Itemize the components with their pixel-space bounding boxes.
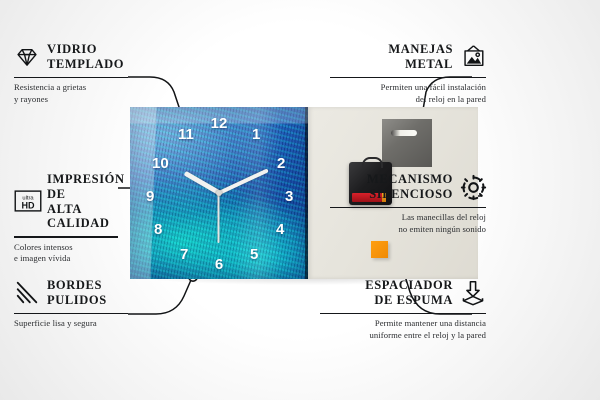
foam-spacer <box>371 241 388 258</box>
metal-hanger-plate <box>382 119 432 167</box>
diamond-icon <box>14 44 40 70</box>
clock-numeral: 2 <box>277 156 285 171</box>
svg-text:HD: HD <box>21 200 35 210</box>
callout-subtitle: Permite mantener una distanciauniforme e… <box>320 318 486 342</box>
clock-numeral: 8 <box>154 222 162 237</box>
callout-subtitle: Permiten una fácil instalacióndel reloj … <box>330 82 486 106</box>
clock-front: 12 1 2 3 4 5 6 7 8 9 10 11 <box>130 107 308 279</box>
clock-center-pin <box>216 190 222 196</box>
callout-bordes-pulidos: BORDESPULIDOS Superficie lisa y segura <box>14 278 128 330</box>
callout-subtitle: Superficie lisa y segura <box>14 318 128 330</box>
arrow-down-pad-icon <box>460 280 486 306</box>
callout-mecanismo-silencioso: MECANISMOSILENCIOSO Las manecillas del r… <box>330 172 486 236</box>
clock-numeral: 7 <box>180 247 188 262</box>
callout-rule <box>320 313 486 315</box>
callout-subtitle: Resistencia a grietasy rayones <box>14 82 128 106</box>
infographic-canvas: 12 1 2 3 4 5 6 7 8 9 10 11 <box>0 0 600 400</box>
clock-numeral: 11 <box>178 127 194 142</box>
hanger-slot <box>391 130 417 136</box>
clock-numeral: 10 <box>152 156 169 171</box>
clock-numeral: 4 <box>276 222 284 237</box>
callout-rule <box>14 236 118 238</box>
callout-title: ESPACIADORDE ESPUMA <box>365 278 453 308</box>
callout-espaciador-espuma: ESPACIADORDE ESPUMA Permite mantener una… <box>320 278 486 342</box>
callout-impresion-alta-calidad: ultra HD IMPRESIÓN DEALTA CALIDAD Colore… <box>14 172 118 265</box>
clock-numeral: 1 <box>252 127 260 142</box>
ultra-hd-icon: ultra HD <box>14 189 40 215</box>
diagonal-lines-icon <box>14 280 40 306</box>
clock-numeral: 6 <box>215 257 223 272</box>
movement-hanger-loop <box>362 157 383 168</box>
callout-title: MECANISMOSILENCIOSO <box>367 172 453 202</box>
callout-rule <box>14 313 128 315</box>
callout-rule <box>330 207 486 209</box>
picture-frame-icon <box>460 44 486 70</box>
callout-manejas-metal: MANEJASMETAL Permiten una fácil instalac… <box>330 42 486 106</box>
callout-vidrio-templado: VIDRIOTEMPLADO Resistencia a grietasy ra… <box>14 42 128 106</box>
clock-numeral: 12 <box>211 116 228 131</box>
callout-rule <box>330 77 486 79</box>
callout-subtitle: Las manecillas del relojno emiten ningún… <box>330 212 486 236</box>
callout-title: VIDRIOTEMPLADO <box>47 42 124 72</box>
clock-numeral: 5 <box>250 247 258 262</box>
callout-subtitle: Colores intensose imagen vívida <box>14 242 118 266</box>
callout-title: BORDESPULIDOS <box>47 278 107 308</box>
callout-rule <box>14 77 128 79</box>
callout-title: MANEJASMETAL <box>388 42 453 72</box>
clock-numeral: 9 <box>146 189 154 204</box>
callout-title: IMPRESIÓN DEALTA CALIDAD <box>47 172 125 231</box>
clock-numeral: 3 <box>285 189 293 204</box>
gear-icon <box>460 174 486 200</box>
